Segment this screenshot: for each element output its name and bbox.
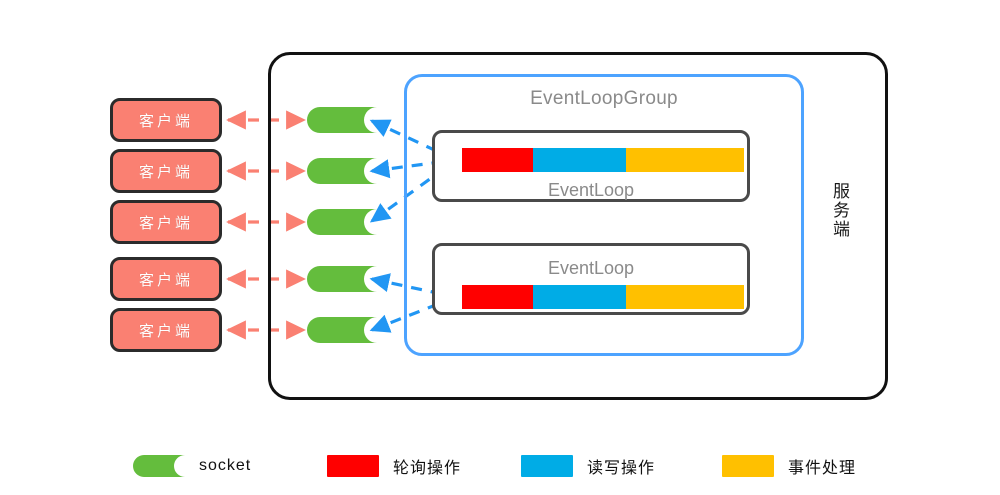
legend-swatch-eventhandle-icon <box>722 455 774 477</box>
socket-shape-4 <box>307 266 377 292</box>
eventloop-segment-poll-2 <box>462 285 533 309</box>
legend: socket 轮询操作 读写操作 事件处理 <box>0 448 1000 488</box>
socket-shape-5 <box>307 317 377 343</box>
eventloop-segment-poll-1 <box>462 148 533 172</box>
client-box-5: 客户端 <box>110 308 222 352</box>
eventloop-title-2: EventLoop <box>432 258 750 279</box>
legend-swatch-poll-icon <box>327 455 379 477</box>
eventloop-phase-bar-1 <box>462 148 744 172</box>
server-label: 服务端 <box>824 182 854 239</box>
client-label-1: 客户端 <box>139 110 193 131</box>
legend-item-poll: 轮询操作 <box>327 451 461 481</box>
eventloopgroup-title: EventLoopGroup <box>404 88 804 110</box>
diagram-canvas: 服务端 EventLoopGroup EventLoop EventLoop 客… <box>0 0 1000 495</box>
client-label-3: 客户端 <box>139 212 193 233</box>
client-label-4: 客户端 <box>139 269 193 290</box>
eventloop-segment-readwrite-1 <box>533 148 626 172</box>
socket-shape-3 <box>307 209 377 235</box>
legend-swatch-socket-icon <box>133 455 185 477</box>
socket-shape-2 <box>307 158 377 184</box>
legend-item-socket: socket <box>133 451 251 481</box>
client-box-4: 客户端 <box>110 257 222 301</box>
legend-label-eventhandle: 事件处理 <box>788 454 856 478</box>
legend-item-readwrite: 读写操作 <box>521 451 655 481</box>
legend-label-readwrite: 读写操作 <box>587 454 655 478</box>
client-box-3: 客户端 <box>110 200 222 244</box>
legend-item-eventhandle: 事件处理 <box>722 451 856 481</box>
eventloop-segment-eventhandle-2 <box>626 285 744 309</box>
eventloop-phase-bar-2 <box>462 285 744 309</box>
legend-label-poll: 轮询操作 <box>393 454 461 478</box>
client-label-5: 客户端 <box>139 320 193 341</box>
legend-label-socket: socket <box>199 457 251 475</box>
client-box-1: 客户端 <box>110 98 222 142</box>
eventloop-title-1: EventLoop <box>432 180 750 201</box>
socket-shape-1 <box>307 107 377 133</box>
eventloop-segment-readwrite-2 <box>533 285 626 309</box>
eventloop-segment-eventhandle-1 <box>626 148 744 172</box>
client-label-2: 客户端 <box>139 161 193 182</box>
legend-swatch-readwrite-icon <box>521 455 573 477</box>
client-box-2: 客户端 <box>110 149 222 193</box>
